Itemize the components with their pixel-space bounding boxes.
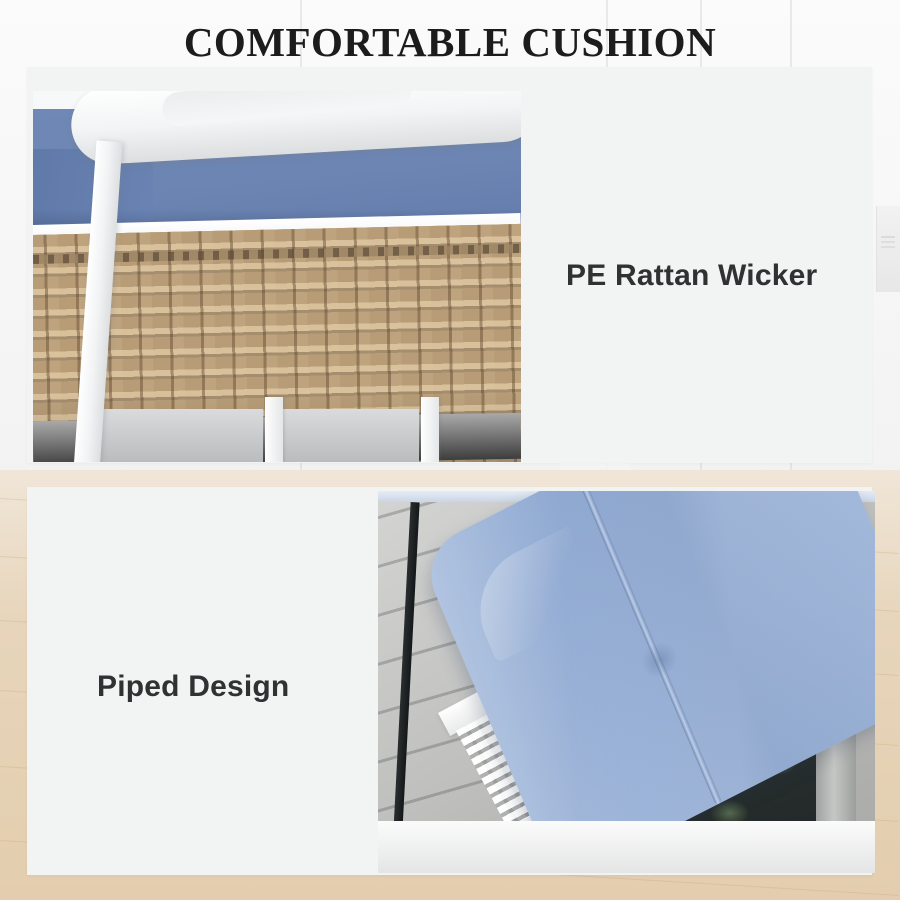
background-side-object [876,206,900,292]
caption-pe-rattan-wicker: PE Rattan Wicker [566,259,817,293]
background-post [421,397,439,462]
photo-piped-design [378,491,875,873]
photo-pe-rattan-wicker [33,91,521,462]
photo-bottom-frame [378,821,875,873]
background-post [265,397,283,462]
page-title: COMFORTABLE CUSHION [0,18,900,66]
caption-piped-design: Piped Design [97,670,289,704]
background-door-panel [93,409,263,462]
armrest-highlight [161,91,413,127]
background-door-panel [279,409,419,462]
product-infographic: COMFORTABLE CUSHION PE Rattan Wicker [0,0,900,900]
